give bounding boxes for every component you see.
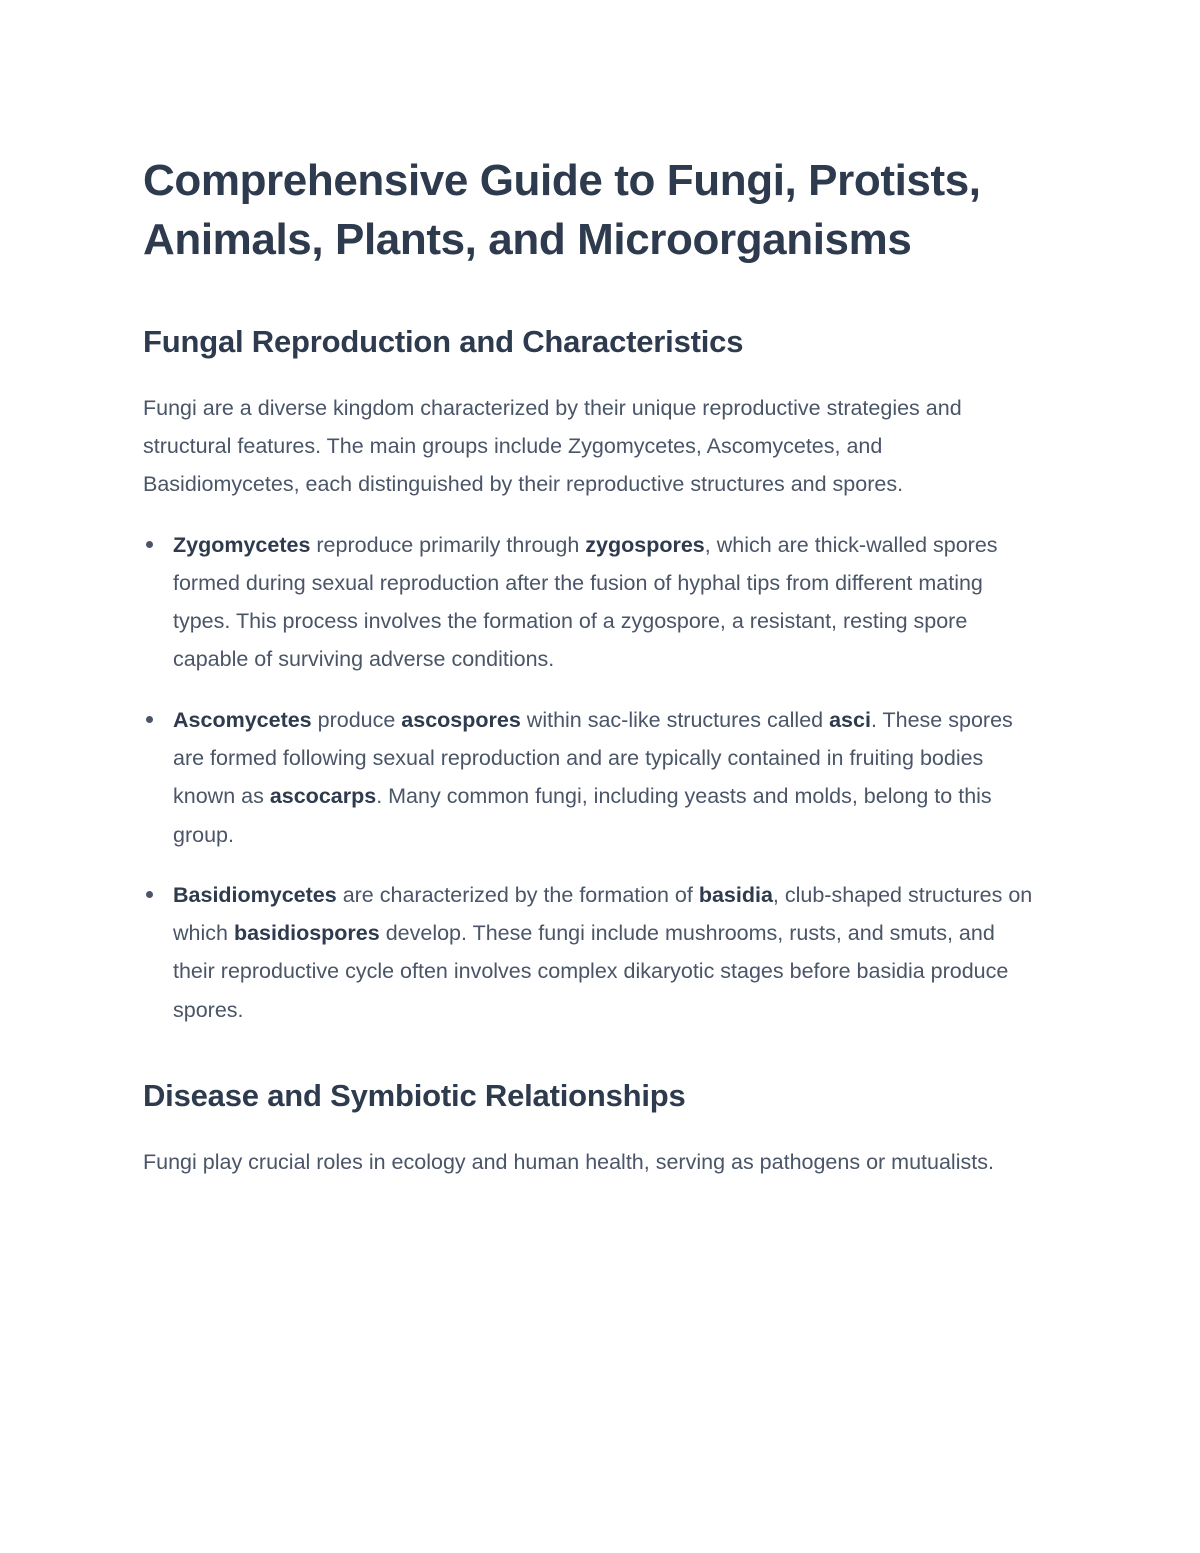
bullet-point-icon (146, 716, 153, 723)
section-heading-disease-symbiotic: Disease and Symbiotic Relationships (143, 1075, 1040, 1117)
emphasized-term: Ascomycetes (173, 708, 312, 732)
emphasized-term: basidia (699, 883, 773, 907)
section-intro-paragraph-fungal-reproduction: Fungi are a diverse kingdom characterize… (143, 389, 1040, 504)
text-run: produce (312, 708, 402, 732)
section-heading-fungal-reproduction: Fungal Reproduction and Characteristics (143, 321, 1040, 363)
list-item-text: Ascomycetes produce ascospores within sa… (173, 708, 1013, 847)
list-item: Zygomycetes reproduce primarily through … (143, 526, 1040, 679)
bullet-point-icon (146, 541, 153, 548)
bullet-point-icon (146, 891, 153, 898)
emphasized-term: Basidiomycetes (173, 883, 337, 907)
emphasized-term: ascocarps (270, 784, 376, 808)
fungal-groups-list: Zygomycetes reproduce primarily through … (143, 526, 1040, 1029)
emphasized-term: asci (829, 708, 871, 732)
emphasized-term: Zygomycetes (173, 533, 310, 557)
list-item: Basidiomycetes are characterized by the … (143, 876, 1040, 1029)
emphasized-term: ascospores (401, 708, 521, 732)
list-item: Ascomycetes produce ascospores within sa… (143, 701, 1040, 854)
document-title: Comprehensive Guide to Fungi, Protists, … (143, 152, 1040, 269)
text-run: within sac-like structures called (521, 708, 829, 732)
list-item-text: Basidiomycetes are characterized by the … (173, 883, 1032, 1022)
emphasized-term: basidiospores (234, 921, 380, 945)
document-page: Comprehensive Guide to Fungi, Protists, … (0, 0, 1200, 1553)
text-run: reproduce primarily through (310, 533, 585, 557)
emphasized-term: zygospores (585, 533, 704, 557)
section-intro-paragraph-disease-symbiotic: Fungi play crucial roles in ecology and … (143, 1143, 1040, 1181)
text-run: are characterized by the formation of (337, 883, 699, 907)
list-item-text: Zygomycetes reproduce primarily through … (173, 533, 998, 672)
